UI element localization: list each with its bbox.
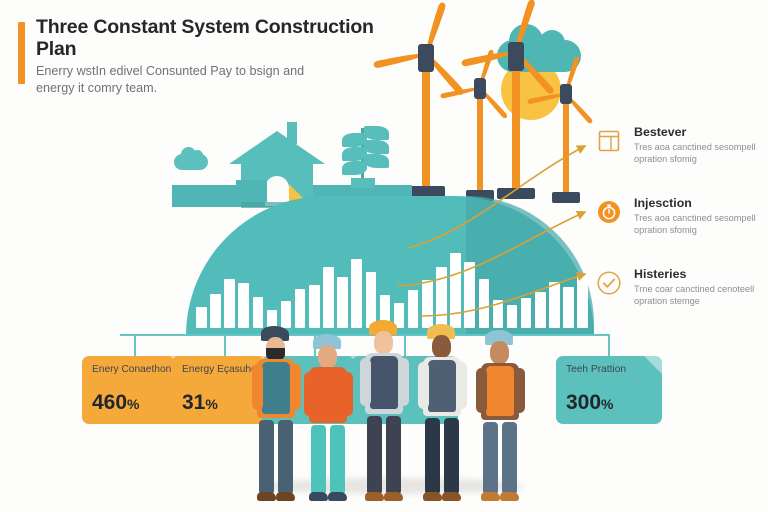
- bar: [196, 307, 207, 328]
- legend-item[interactable]: HisteriesTrne coar canctined cenoteell o…: [596, 268, 764, 322]
- legend-item[interactable]: BesteverTres aoa canctined sesompell opr…: [596, 126, 764, 180]
- worker-leg: [367, 416, 382, 494]
- worker-shoe: [328, 492, 347, 501]
- legend-list: BesteverTres aoa canctined sesompell opr…: [596, 126, 764, 339]
- worker-arm: [514, 368, 525, 413]
- worker-leg: [444, 418, 459, 494]
- stat-card-value: 31%: [182, 391, 218, 415]
- worker-shoe: [442, 492, 461, 501]
- legend-item[interactable]: InjesctionTres aoa canctined sesompell o…: [596, 197, 764, 251]
- legend-item-body: Tres aoa canctined sesompell opration sf…: [634, 212, 764, 236]
- stat-card-unit: %: [205, 396, 217, 412]
- worker-figure: [472, 330, 530, 504]
- plant-leaf: [342, 133, 367, 147]
- check-circle-icon: [596, 270, 622, 296]
- worker-shoe: [384, 492, 403, 501]
- plant-leaf: [364, 126, 389, 140]
- worker-figure: [248, 326, 306, 504]
- legend-item-title: Histeries: [634, 268, 764, 282]
- layout-grid-icon: [596, 128, 622, 154]
- bar: [563, 287, 574, 328]
- wind-turbine: [398, 22, 458, 194]
- turbine-base: [552, 192, 579, 203]
- worker-shoe: [276, 492, 295, 501]
- worker-shoe: [309, 492, 328, 501]
- infographic-canvas: Three Constant System Construction Plan …: [0, 0, 768, 512]
- plant-leaf: [364, 154, 389, 168]
- worker-leg: [502, 422, 517, 494]
- worker-head: [490, 341, 509, 364]
- legend-item-body: Tres aoa canctined sesompell opration sf…: [634, 141, 764, 165]
- stat-card-value: 460%: [92, 391, 140, 415]
- turbine-nacelle: [474, 78, 486, 99]
- stat-card-unit: %: [127, 396, 139, 412]
- stat-card[interactable]: Teeh Prattion300%: [556, 356, 662, 424]
- worker-vest: [262, 362, 290, 414]
- worker-leg: [259, 420, 274, 494]
- wind-turbine: [538, 62, 598, 200]
- worker-figure: [300, 334, 358, 504]
- turbine-base: [497, 188, 536, 199]
- worker-shoe: [257, 492, 276, 501]
- worker-arm: [360, 358, 371, 406]
- timer-circle-icon: [596, 199, 622, 225]
- worker-vest: [428, 360, 456, 412]
- bar: [577, 276, 588, 328]
- bar: [224, 279, 235, 328]
- worker-arm: [252, 364, 263, 410]
- worker-arm: [342, 372, 353, 416]
- stat-card-value: 300%: [566, 391, 614, 415]
- bar: [210, 294, 221, 328]
- worker-vest: [370, 356, 398, 409]
- bar: [549, 282, 560, 328]
- worker-arm: [456, 362, 467, 409]
- plant-pot: [351, 178, 375, 188]
- worker-shoe: [500, 492, 519, 501]
- worker-vest: [486, 366, 514, 416]
- stat-card-label: Enery Conaethon: [92, 364, 178, 376]
- worker-leg: [278, 420, 293, 494]
- legend-item-body: Trne coar canctined cenoteell opration s…: [634, 283, 764, 307]
- worker-shoe: [481, 492, 500, 501]
- plant-leaf: [342, 147, 367, 161]
- worker-leg: [483, 422, 498, 494]
- worker-leg: [425, 418, 440, 494]
- worker-head: [432, 335, 451, 358]
- plant-icon: [333, 124, 393, 190]
- worker-arm: [418, 362, 429, 409]
- worker-figure: [414, 324, 472, 504]
- connector-drop: [224, 334, 226, 356]
- stat-card-unit: %: [601, 396, 613, 412]
- worker-arm: [476, 368, 487, 413]
- stat-card-label: Teeh Prattion: [566, 364, 652, 376]
- worker-leg: [311, 425, 326, 494]
- turbine-nacelle: [508, 42, 524, 71]
- legend-item-title: Bestever: [634, 126, 764, 140]
- connector-drop: [134, 334, 136, 356]
- plant-leaf: [364, 140, 389, 154]
- dome-neck: [236, 180, 267, 202]
- worker-figure: [356, 320, 414, 504]
- worker-shoe: [365, 492, 384, 501]
- worker-leg: [386, 416, 401, 494]
- worker-head: [318, 345, 337, 368]
- worker-vest: [314, 370, 342, 419]
- plant-leaf: [342, 161, 367, 175]
- worker-group: [246, 316, 538, 504]
- house-icon: [229, 118, 325, 188]
- legend-item-title: Injesction: [634, 197, 764, 211]
- worker-arm: [304, 372, 315, 416]
- worker-shoe: [423, 492, 442, 501]
- worker-arm: [398, 358, 409, 406]
- turbine-nacelle: [418, 44, 434, 72]
- small-cloud-icon: [174, 154, 208, 170]
- house-roof: [229, 131, 325, 164]
- worker-leg: [330, 425, 345, 494]
- card-fold-corner: [644, 356, 662, 374]
- turbine-nacelle: [560, 84, 572, 104]
- worker-head: [374, 331, 393, 354]
